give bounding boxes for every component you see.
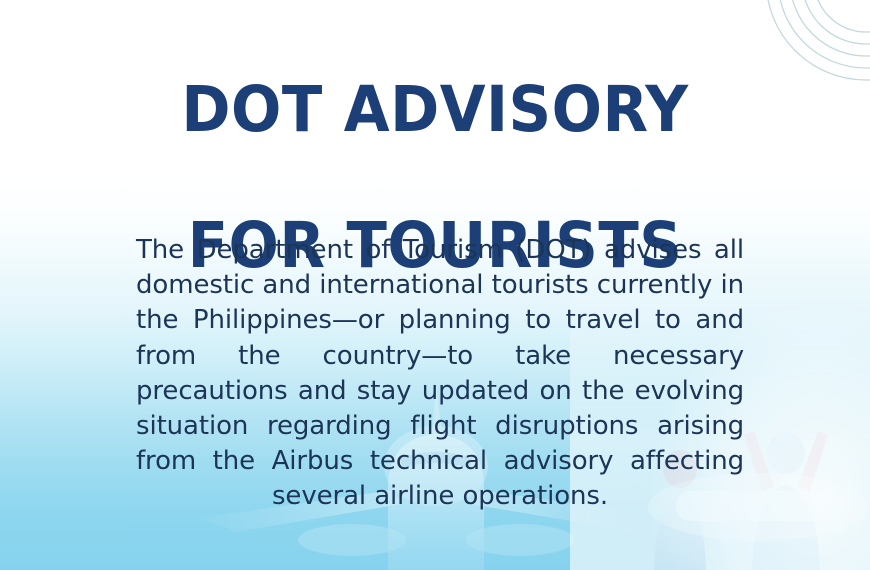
headline-line-1: DOT ADVISORY	[26, 76, 844, 144]
advisory-body-text: The Department of Tourism (DOT) advises …	[136, 233, 744, 515]
poster-content: DOT ADVISORY FOR TOURISTS The Department…	[0, 0, 870, 570]
dot-advisory-poster: DOT ADVISORY FOR TOURISTS The Department…	[0, 0, 870, 570]
